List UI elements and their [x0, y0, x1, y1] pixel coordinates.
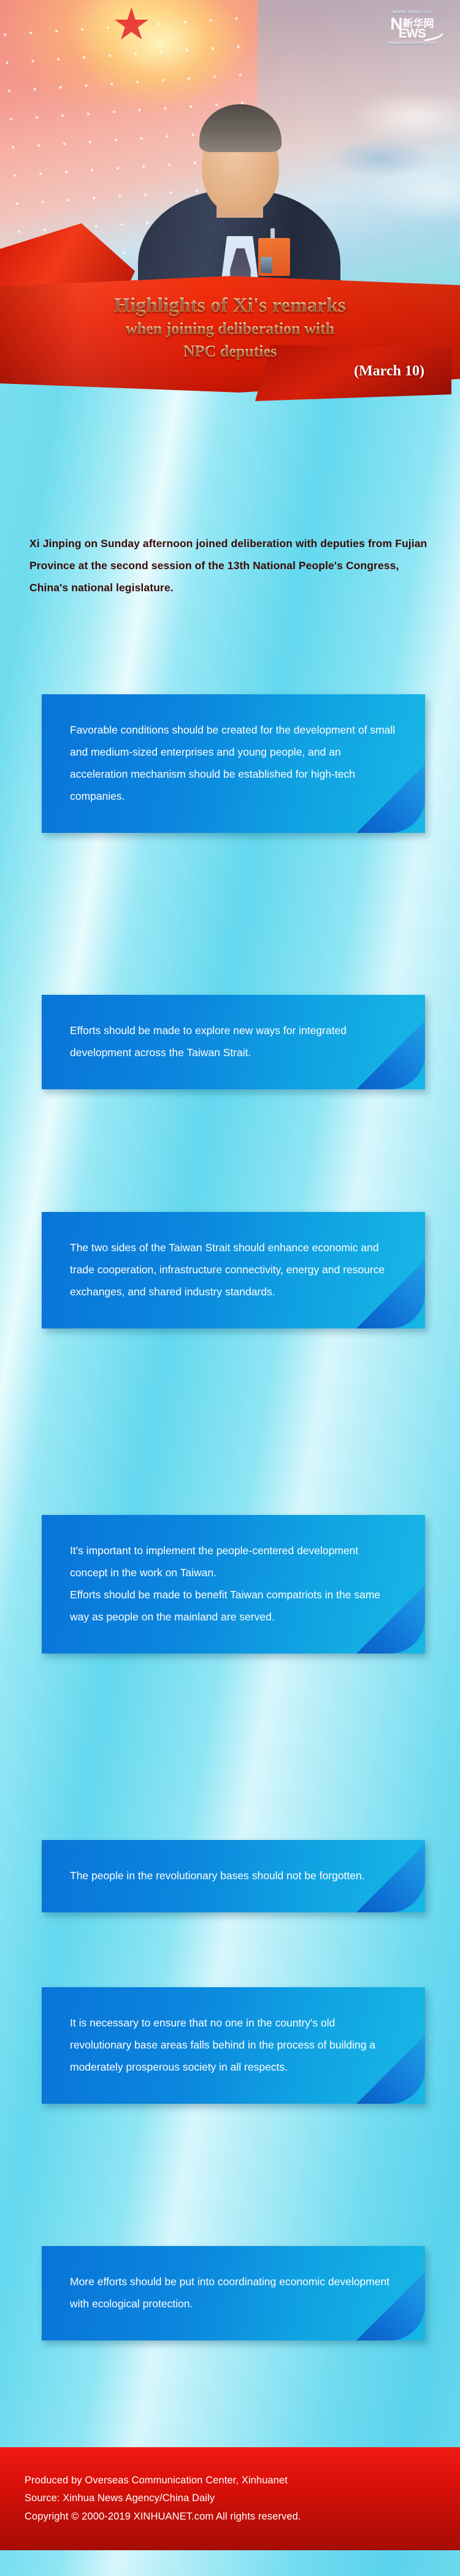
- quote-text: More efforts should be put into coordina…: [70, 2271, 397, 2315]
- quote-card: The two sides of the Taiwan Strait shoul…: [42, 1212, 425, 1328]
- footer-produced-by: Produced by Overseas Communication Cente…: [25, 2472, 460, 2490]
- title-ribbon: Highlights of Xi's remarks when joining …: [0, 202, 460, 411]
- quote-card: The people in the revolutionary bases sh…: [42, 1840, 425, 1912]
- quote-text: Favorable conditions should be created f…: [70, 719, 397, 807]
- quote-text: The people in the revolutionary bases sh…: [70, 1865, 397, 1887]
- quote-text: It is necessary to ensure that no one in…: [70, 2012, 397, 2078]
- quote-text: The two sides of the Taiwan Strait shoul…: [70, 1236, 397, 1303]
- title-date-badge: (March 10): [354, 363, 424, 380]
- title-line-1: Highlights of Xi's remarks: [0, 293, 460, 318]
- quote-text: Efforts should be made to benefit Taiwan…: [70, 1584, 397, 1628]
- title-line-3: NPC deputies: [0, 340, 460, 363]
- quote-card: More efforts should be put into coordina…: [42, 2246, 425, 2340]
- quote-text: Efforts should be made to explore new wa…: [70, 1019, 397, 1064]
- footer-copyright: Copyright © 2000-2019 XINHUANET.com All …: [25, 2508, 460, 2526]
- footer-source: Source: Xinhua News Agency/China Daily: [25, 2490, 460, 2507]
- quote-card: It is necessary to ensure that no one in…: [42, 1987, 425, 2104]
- hair-shape: [199, 104, 282, 152]
- title-line-2: when joining deliberation with: [0, 318, 460, 340]
- quote-text: It's important to implement the people-c…: [70, 1539, 397, 1584]
- quote-card: Efforts should be made to explore new wa…: [42, 995, 425, 1089]
- footer: Produced by Overseas Communication Cente…: [0, 2447, 460, 2550]
- infographic-page: www.news.cn N 新华网 EWS www.xinhuanet.com …: [0, 0, 460, 2576]
- xinhua-logo[interactable]: www.news.cn N 新华网 EWS www.xinhuanet.com: [378, 9, 447, 53]
- page-title: Highlights of Xi's remarks when joining …: [0, 293, 460, 363]
- quote-card: Favorable conditions should be created f…: [42, 694, 425, 833]
- quote-card: It's important to implement the people-c…: [42, 1515, 425, 1654]
- intro-paragraph: Xi Jinping on Sunday afternoon joined de…: [29, 532, 434, 599]
- logo-bottom-url: www.xinhuanet.com: [378, 39, 447, 45]
- logo-top-url: www.news.cn: [378, 9, 447, 15]
